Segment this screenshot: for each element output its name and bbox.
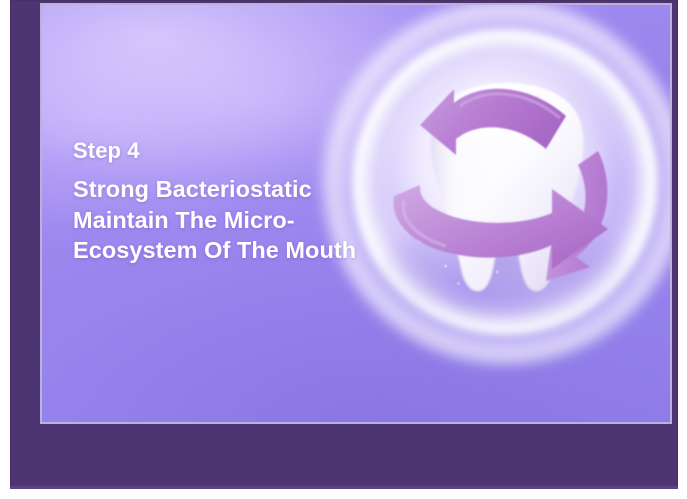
headline-line-2: Maintain The Micro-: [73, 205, 403, 236]
headline-line-3: Ecosystem Of The Mouth: [73, 235, 403, 266]
product-card: Step 4 Strong Bacteriostatic Maintain Th…: [10, 0, 678, 488]
banner-text-block: Step 4 Strong Bacteriostatic Maintain Th…: [73, 138, 403, 266]
headline: Strong Bacteriostatic Maintain The Micro…: [73, 174, 403, 266]
card-bottom-rule: [10, 486, 678, 489]
tooth-icon: [412, 77, 602, 297]
step-label: Step 4: [73, 138, 403, 163]
headline-line-1: Strong Bacteriostatic: [73, 174, 403, 205]
banner-image: Step 4 Strong Bacteriostatic Maintain Th…: [42, 5, 670, 422]
